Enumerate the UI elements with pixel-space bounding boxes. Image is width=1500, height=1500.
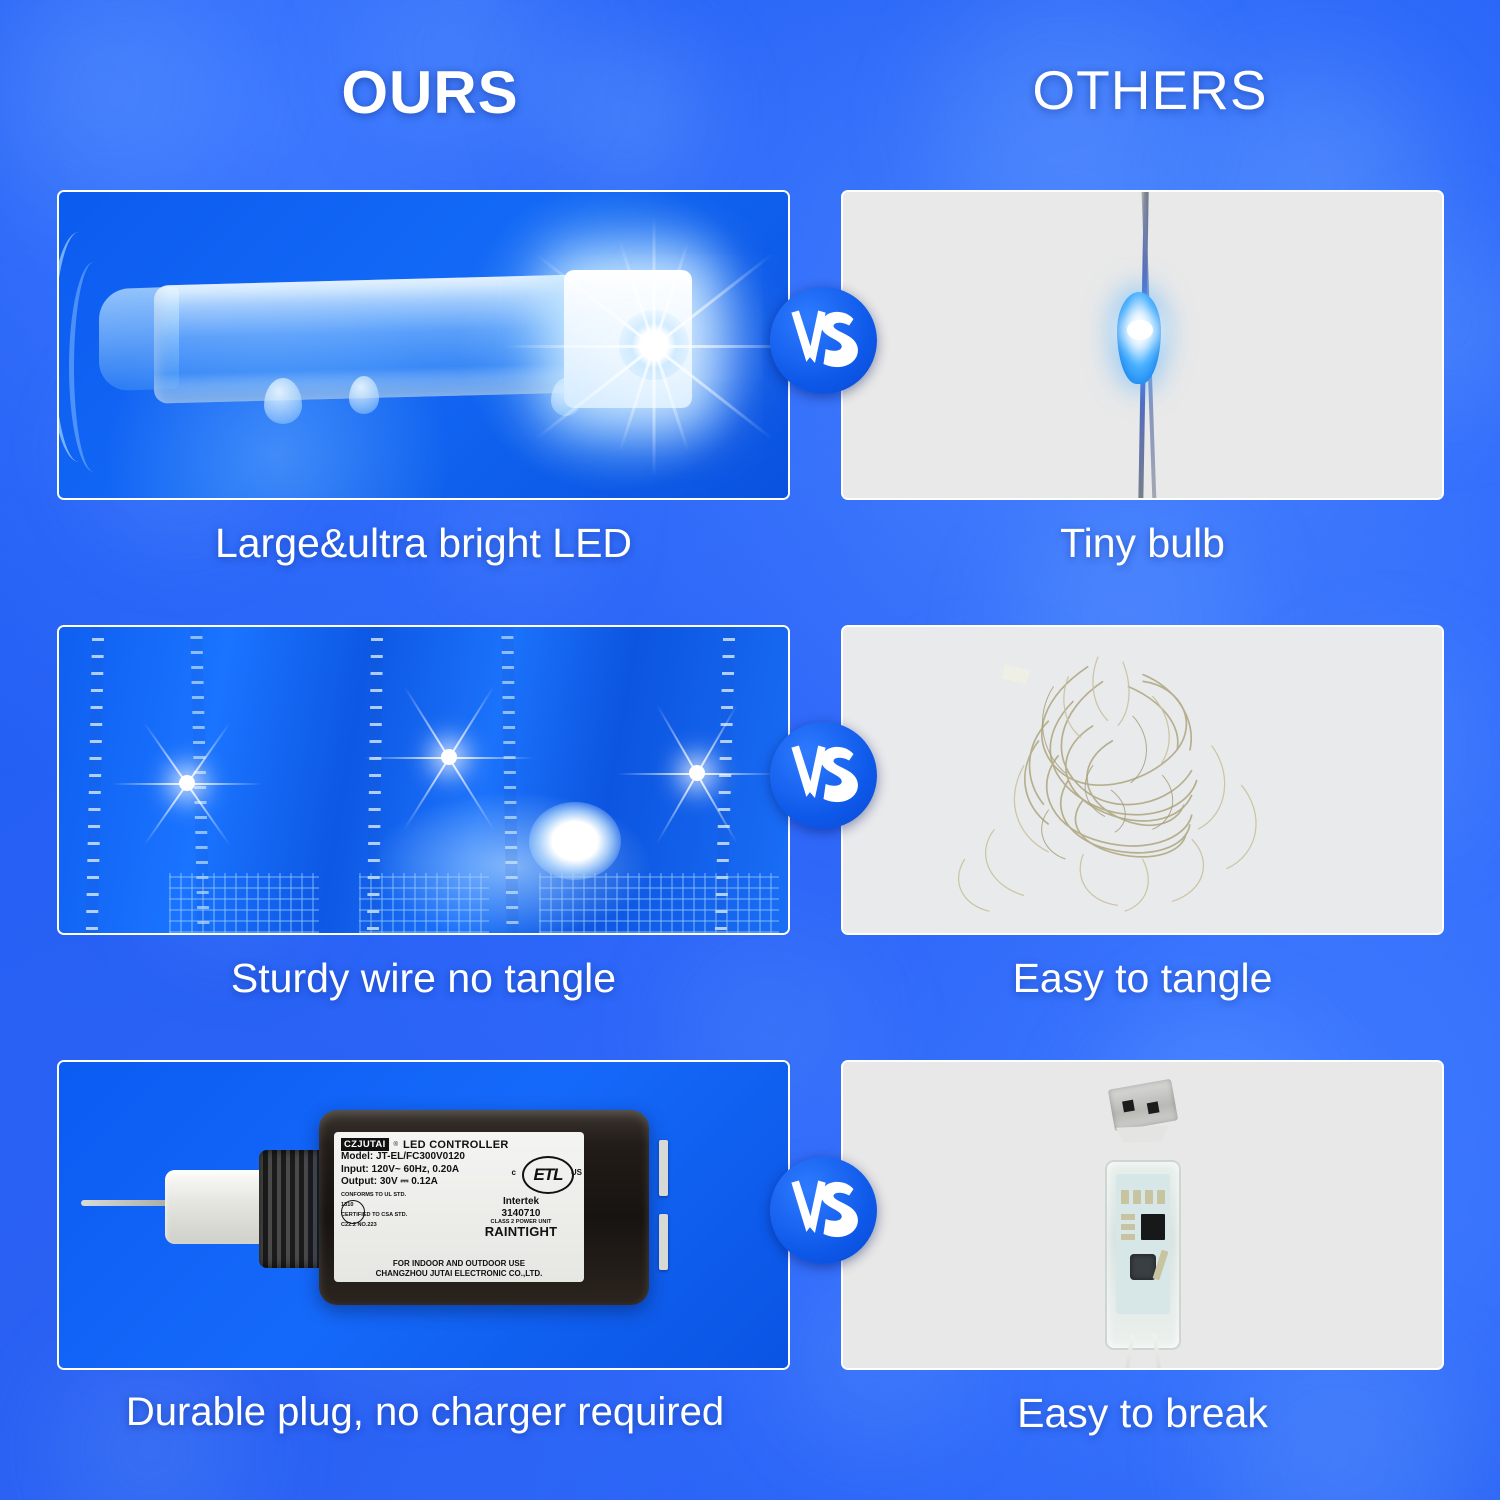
ours-header: OURS xyxy=(300,58,560,127)
comparison-row-2: Sturdy wire no tangle Easy to tangle xyxy=(0,625,1500,1055)
ours-caption-1: Large&ultra bright LED xyxy=(57,520,790,567)
others-image-panel-1 xyxy=(841,190,1444,500)
vs-badge-2 xyxy=(770,722,877,829)
others-image-panel-3 xyxy=(841,1060,1444,1370)
etl-us-mark: US xyxy=(571,1168,582,1177)
others-header: OTHERS xyxy=(1010,58,1290,122)
vs-badge-3 xyxy=(770,1157,877,1264)
broken-usb-controller-photo xyxy=(843,1062,1442,1368)
adapter-raintight: RAINTIGHT xyxy=(462,1225,580,1240)
comparison-infographic: OURS OTHERS xyxy=(0,0,1500,1500)
power-adapter-plug-photo: CZJUTAI ® LED CONTROLLER Model: JT-EL/FC… xyxy=(59,1062,788,1368)
adapter-manufacturer: CHANGZHOU JUTAI ELECTRONIC CO.,LTD. xyxy=(334,1269,584,1279)
registered-mark-icon: ® xyxy=(394,1142,398,1148)
ours-image-panel-3: CZJUTAI ® LED CONTROLLER Model: JT-EL/FC… xyxy=(57,1060,790,1370)
ours-caption-3: Durable plug, no charger required xyxy=(40,1390,810,1435)
comparison-row-1: Large&ultra bright LED Tiny bulb xyxy=(0,190,1500,620)
others-caption-2: Easy to tangle xyxy=(841,955,1444,1002)
large-led-bulb-photo xyxy=(59,192,788,498)
adapter-title: LED CONTROLLER xyxy=(403,1139,509,1151)
etl-c-mark: c xyxy=(512,1168,516,1177)
others-caption-1: Tiny bulb xyxy=(841,520,1444,567)
intertek-number: 3140710 xyxy=(462,1208,580,1220)
adapter-label: CZJUTAI ® LED CONTROLLER Model: JT-EL/FC… xyxy=(334,1132,584,1282)
ours-image-panel-1 xyxy=(57,190,790,500)
adapter-usage-line-1: FOR INDOOR AND OUTDOOR USE xyxy=(334,1259,584,1269)
others-image-panel-2 xyxy=(841,625,1444,935)
etl-mark-icon: ETL xyxy=(522,1156,574,1194)
others-caption-3: Easy to break xyxy=(841,1390,1444,1437)
intertek-name: Intertek xyxy=(462,1196,580,1208)
blue-curtain-lights-photo xyxy=(59,627,788,933)
tangled-wire-photo xyxy=(843,627,1442,933)
ours-caption-2: Sturdy wire no tangle xyxy=(57,955,790,1002)
column-headers: OURS OTHERS xyxy=(0,58,1500,138)
vs-badge-1 xyxy=(770,287,877,394)
psi-certification-icon xyxy=(341,1200,365,1224)
adapter-brand: CZJUTAI xyxy=(341,1138,389,1151)
ours-image-panel-2 xyxy=(57,625,790,935)
comparison-row-3: CZJUTAI ® LED CONTROLLER Model: JT-EL/FC… xyxy=(0,1060,1500,1490)
tiny-bulb-photo xyxy=(843,192,1442,498)
